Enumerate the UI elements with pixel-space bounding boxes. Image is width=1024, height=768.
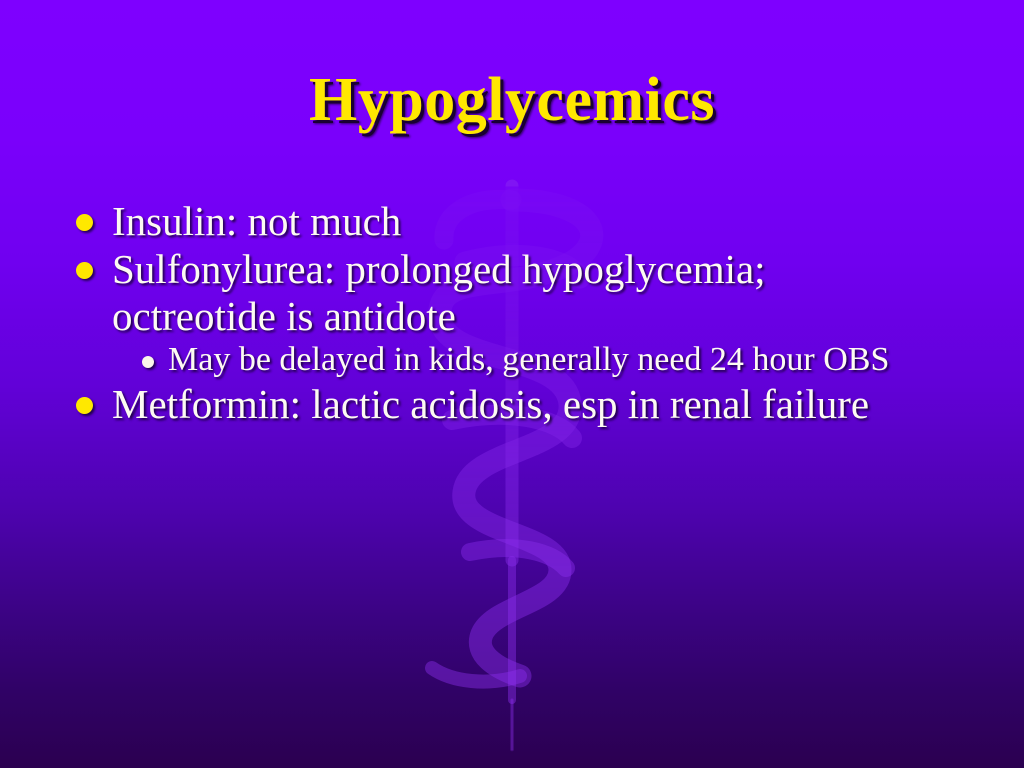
bullet-dot-icon [76, 262, 93, 279]
sub-bullet-text: May be delayed in kids, generally need 2… [168, 341, 928, 379]
bullet-text: Insulin: not much [112, 198, 932, 244]
slide-body: Insulin: not much Sulfonylurea: prolonge… [76, 198, 976, 430]
bullet-dot-icon [76, 214, 93, 231]
bullet-text: Metformin: lactic acidosis, esp in renal… [112, 381, 932, 427]
sub-bullet-item: May be delayed in kids, generally need 2… [142, 341, 976, 379]
bullet-dot-icon [76, 397, 93, 414]
bullet-item: Metformin: lactic acidosis, esp in renal… [76, 381, 976, 427]
bullet-item: Sulfonylurea: prolonged hypoglycemia; oc… [76, 246, 976, 339]
bullet-item: Insulin: not much [76, 198, 976, 244]
slide-title: Hypoglycemics [0, 68, 1024, 133]
bullet-text: Sulfonylurea: prolonged hypoglycemia; oc… [112, 246, 932, 339]
presentation-slide: Hypoglycemics Insulin: not much Sulfonyl… [0, 0, 1024, 768]
sub-bullet-dot-icon [142, 356, 154, 368]
